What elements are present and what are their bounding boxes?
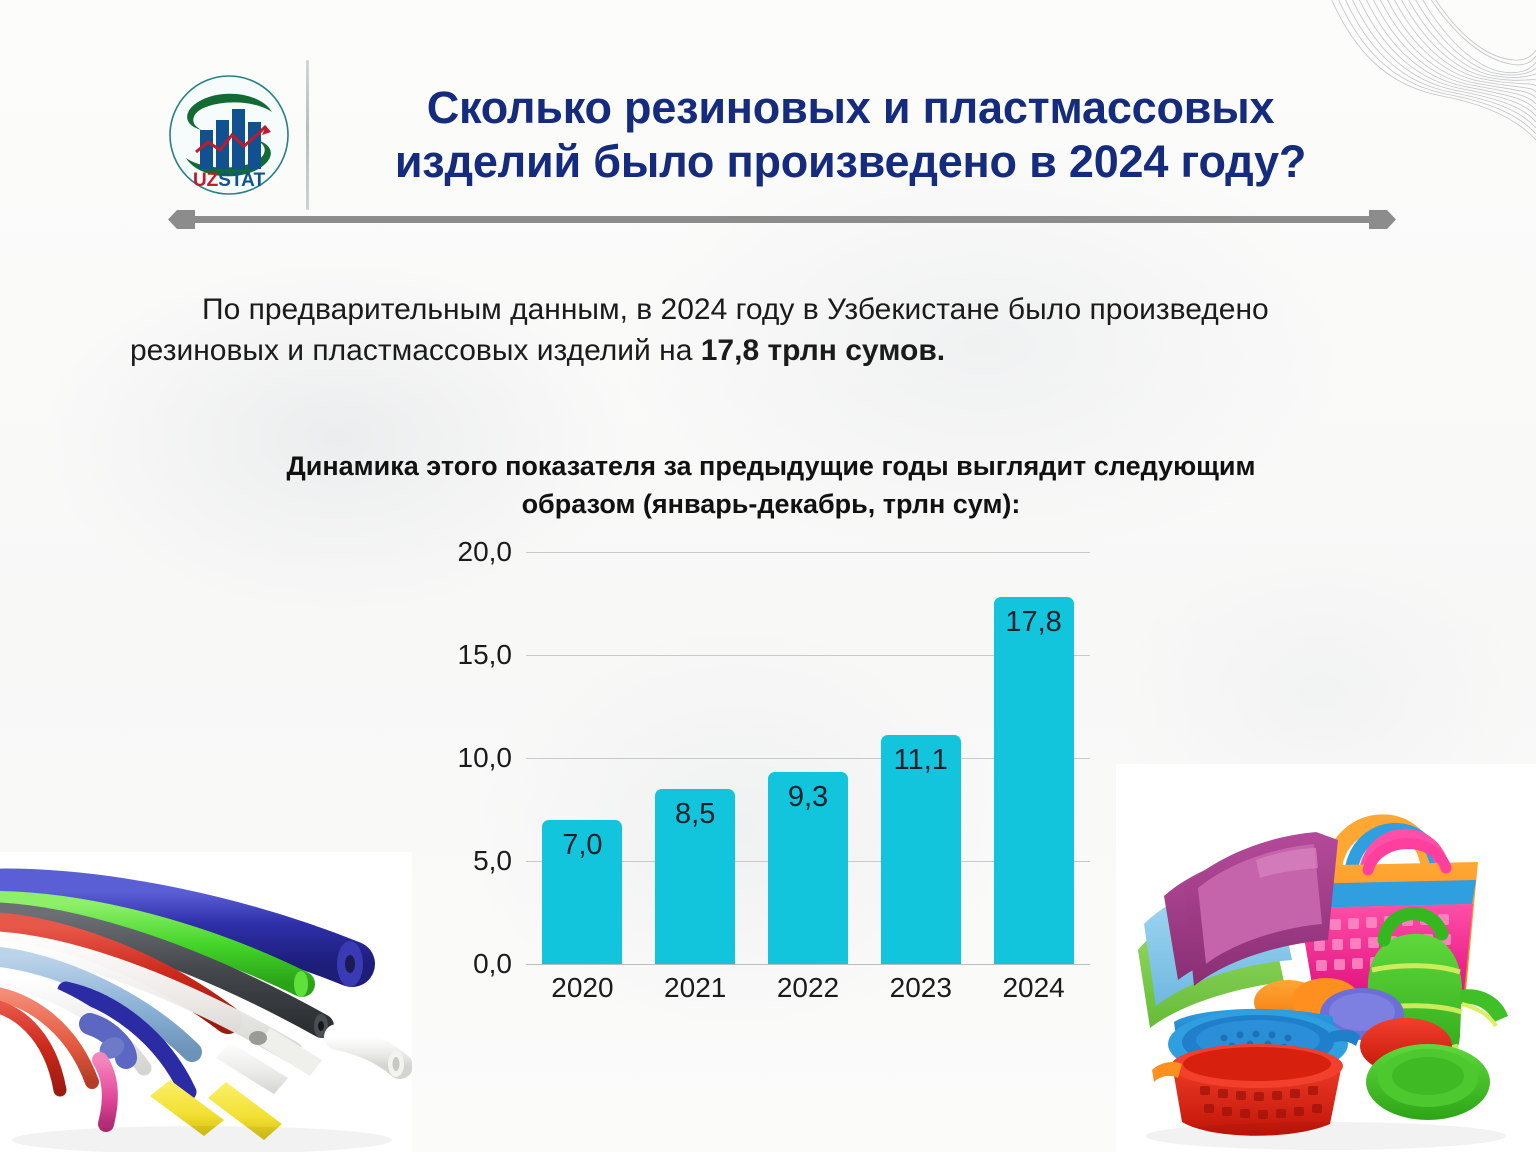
bar-2023[interactable]: 11,1 <box>881 735 961 964</box>
header-divider <box>306 60 309 210</box>
x-axis-tick-label: 2021 <box>639 972 752 1016</box>
rubber-products-photo <box>0 852 412 1152</box>
bar-slot: 8,5 <box>639 552 752 964</box>
bar-2020[interactable]: 7,0 <box>542 820 622 964</box>
y-axis-tick-label: 15,0 <box>458 639 513 671</box>
y-axis-tick-label: 0,0 <box>473 948 512 980</box>
svg-text:UZSTAT: UZSTAT <box>193 170 266 191</box>
x-axis-tick-label: 2020 <box>526 972 639 1016</box>
logo-stat-text: STAT <box>218 170 265 191</box>
axis-baseline <box>526 964 1090 965</box>
bar-slot: 17,8 <box>977 552 1090 964</box>
x-axis-tick-label: 2024 <box>977 972 1090 1016</box>
bar-value-label: 17,8 <box>994 606 1074 639</box>
uzstat-logo: UZSTAT <box>168 74 290 196</box>
y-axis-labels: 0,05,010,015,020,0 <box>430 552 512 964</box>
bar-slot: 7,0 <box>526 552 639 964</box>
x-axis-tick-label: 2022 <box>752 972 865 1016</box>
bar-value-label: 7,0 <box>542 829 622 862</box>
chart-caption: Динамика этого показателя за предыдущие … <box>186 448 1356 524</box>
bar-2022[interactable]: 9,3 <box>768 772 848 964</box>
intro-paragraph: По предварительным данным, в 2024 году в… <box>130 290 1420 372</box>
intro-text-bold: 17,8 трлн сумов. <box>701 334 945 367</box>
x-axis-labels: 20202021202220232024 <box>526 972 1090 1016</box>
y-axis-tick-label: 5,0 <box>473 845 512 877</box>
bar-value-label: 11,1 <box>881 744 961 777</box>
page-title: Сколько резиновых и пластмассовых издели… <box>343 81 1398 187</box>
bar-value-label: 9,3 <box>768 781 848 814</box>
bar-2024[interactable]: 17,8 <box>994 597 1074 964</box>
plot-area: 7,08,59,311,117,8 <box>526 552 1090 964</box>
y-axis-tick-label: 10,0 <box>458 742 513 774</box>
page-header: UZSTAT Сколько резиновых и пластмассовых… <box>168 62 1398 207</box>
intro-text-regular: По предварительным данным, в 2024 году в… <box>130 293 1269 367</box>
bar-slot: 9,3 <box>752 552 865 964</box>
logo-uz-text: UZ <box>193 170 219 191</box>
plastic-products-photo <box>1116 764 1536 1152</box>
y-axis-tick-label: 20,0 <box>458 536 513 568</box>
bar-chart: 0,05,010,015,020,0 7,08,59,311,117,8 202… <box>430 552 1090 1022</box>
chart-caption-line-1: Динамика этого показателя за предыдущие … <box>186 448 1356 486</box>
chart-caption-line-2: образом (январь-декабрь, трлн сум): <box>186 486 1356 524</box>
bar-series: 7,08,59,311,117,8 <box>526 552 1090 964</box>
bar-slot: 11,1 <box>864 552 977 964</box>
bar-2021[interactable]: 8,5 <box>655 789 735 964</box>
bar-value-label: 8,5 <box>655 798 735 831</box>
header-rule <box>168 205 1396 235</box>
x-axis-tick-label: 2023 <box>864 972 977 1016</box>
